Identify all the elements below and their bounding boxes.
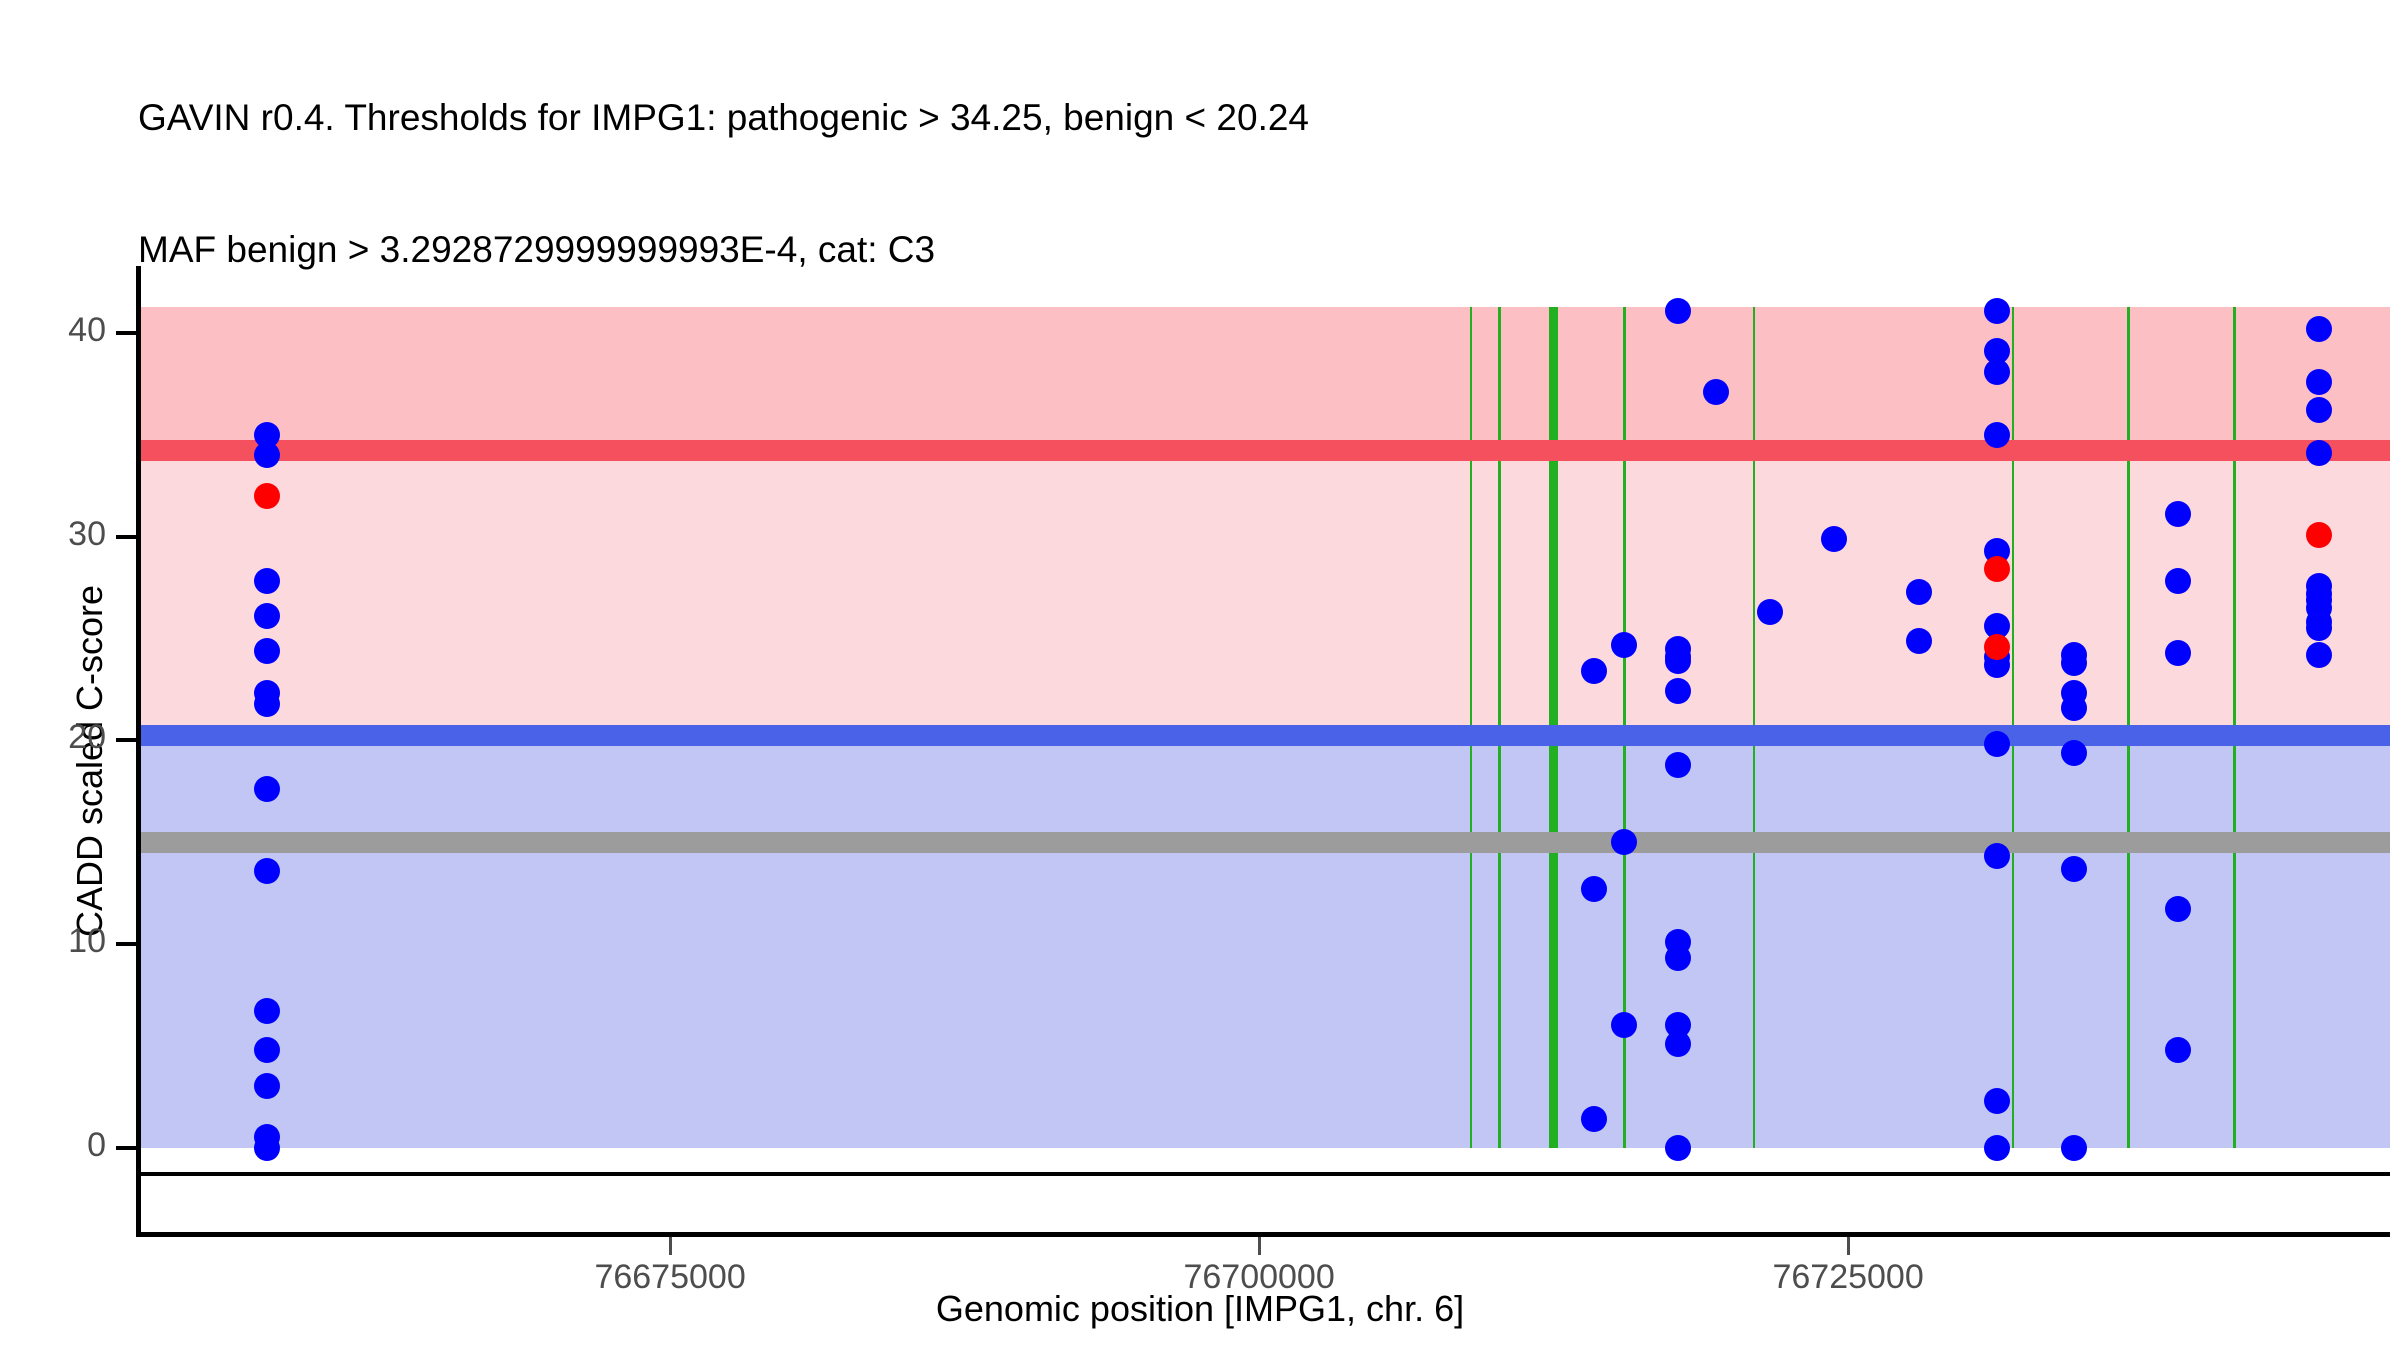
gnomad-variant-point [254, 1135, 280, 1161]
gnomad-variant-point [1984, 359, 2010, 385]
x-axis-outer-line [136, 1232, 2390, 1237]
gnomad-variant-point [2061, 650, 2087, 676]
y-axis-tick-label: 10 [0, 922, 106, 961]
y-axis-tick-label: 30 [0, 515, 106, 554]
x-axis-line [136, 1172, 2390, 1176]
fallback-threshold-line [140, 832, 2390, 853]
x-axis-tick-label: 76725000 [1772, 1258, 1923, 1297]
gnomad-variant-point [1984, 298, 2010, 324]
x-axis-tick-label: 76675000 [594, 1258, 745, 1297]
gnomad-variant-point [2306, 642, 2332, 668]
vus-region-band [140, 450, 2390, 735]
y-axis-tick-label: 40 [0, 311, 106, 350]
gnomad-variant-point [1984, 1135, 2010, 1161]
gnomad-variant-point [254, 638, 280, 664]
plot-panel [140, 276, 2390, 1172]
gnomad-variant-point [254, 1037, 280, 1063]
y-axis-tick [116, 535, 136, 539]
title-line-2: MAF benign > 3.2928729999999993E-4, cat:… [138, 228, 2338, 272]
gnomad-variant-point [2061, 856, 2087, 882]
y-axis-corner [136, 1172, 141, 1236]
gnomad-variant-point [1665, 1031, 1691, 1057]
gnomad-variant-point [254, 691, 280, 717]
y-axis-tick [116, 738, 136, 742]
gnomad-variant-point [1665, 298, 1691, 324]
y-axis-tick [116, 331, 136, 335]
gnomad-variant-point [1984, 731, 2010, 757]
y-axis-tick [116, 1146, 136, 1150]
y-axis-line [136, 266, 141, 1172]
benign-threshold-line [140, 725, 2390, 746]
gnomad-variant-point [2061, 740, 2087, 766]
gnomad-variant-point [1984, 422, 2010, 448]
gnomad-variant-point [2061, 695, 2087, 721]
x-axis-tick [1847, 1237, 1850, 1255]
gnomad-variant-point [1984, 1088, 2010, 1114]
y-axis-tick [116, 942, 136, 946]
gnomad-variant-point [1665, 1135, 1691, 1161]
y-axis-tick-label: 0 [0, 1126, 106, 1165]
pathogenic-threshold-line [140, 440, 2390, 461]
y-axis-label: CADD scaled C-score [69, 341, 111, 1181]
gnomad-variant-point [1906, 579, 1932, 605]
pathogenic-region-band [140, 307, 2390, 451]
clinvar-variant-point [254, 483, 280, 509]
plot-root: GAVIN r0.4. Thresholds for IMPG1: pathog… [0, 0, 2400, 1350]
gnomad-variant-point [2165, 1037, 2191, 1063]
clinvar-variant-point [1984, 634, 2010, 660]
gnomad-variant-point [1581, 658, 1607, 684]
gnomad-variant-point [1581, 1106, 1607, 1132]
gnomad-variant-point [1906, 628, 1932, 654]
benign-region-band [140, 735, 2390, 1147]
gnomad-variant-point [254, 858, 280, 884]
gnomad-variant-point [1581, 876, 1607, 902]
clinvar-variant-point [1984, 556, 2010, 582]
x-axis-tick [1258, 1237, 1261, 1255]
x-axis-tick-label: 76700000 [1183, 1258, 1334, 1297]
gnomad-variant-point [2061, 1135, 2087, 1161]
y-axis-tick-label: 20 [0, 718, 106, 757]
gnomad-variant-point [1611, 632, 1637, 658]
x-axis-tick [669, 1237, 672, 1255]
clinvar-variant-point [2306, 522, 2332, 548]
title-line-1: GAVIN r0.4. Thresholds for IMPG1: pathog… [138, 96, 2338, 140]
gnomad-variant-point [2165, 640, 2191, 666]
gnomad-variant-point [1984, 843, 2010, 869]
gnomad-variant-point [1821, 526, 1847, 552]
